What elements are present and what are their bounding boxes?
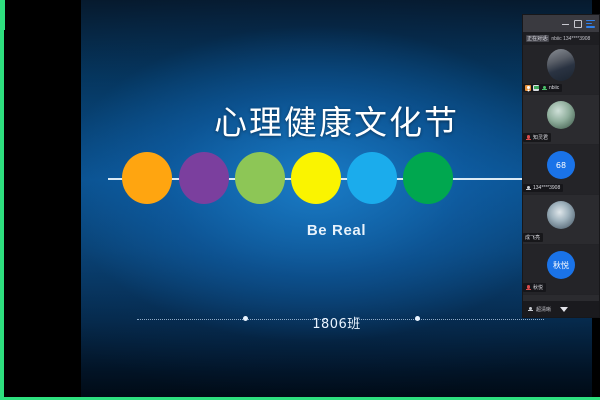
avatar: 秋悦 — [547, 251, 575, 279]
active-speaker-status: 正在对话: nbiic 134****3908 — [523, 32, 599, 45]
footer-label: 1806班 — [81, 313, 592, 332]
participant-name-bar: 知灵君 — [523, 133, 551, 142]
host-icon — [525, 85, 531, 91]
desktop-edge-left — [0, 0, 4, 400]
circle-green — [403, 152, 453, 204]
slide-title: 心理健康文化节 — [81, 96, 592, 144]
participant-name: 知灵君 — [533, 134, 548, 141]
mic-muted-icon — [525, 285, 531, 291]
participant-name-bar: 秋悦 — [523, 283, 546, 292]
video-quality-label: 超清晰 — [536, 306, 551, 313]
participant-name: nbiic — [549, 85, 559, 91]
letterbox-left — [4, 0, 81, 400]
video-call-panel: 正在对话: nbiic 134****3908 nbiic知灵君68134***… — [522, 14, 600, 318]
screen: 心理健康文化节 Be Real 1806班 — [0, 0, 600, 400]
mic-on-icon — [541, 85, 547, 91]
mic-icon[interactable] — [527, 306, 533, 312]
participant-name-bar: 134****3908 — [523, 184, 563, 192]
maximize-icon[interactable] — [574, 20, 582, 28]
desktop-edge-top — [0, 0, 5, 30]
panel-titlebar[interactable] — [523, 15, 599, 32]
mic-muted-icon — [525, 135, 531, 141]
circle-sky-blue — [347, 152, 397, 204]
participant-tile[interactable]: 知灵君 — [523, 95, 599, 145]
participant-name-bar: 成飞亮 — [523, 233, 543, 242]
circle-purple — [179, 152, 229, 204]
circle-band — [81, 152, 592, 204]
participant-tile[interactable]: 秋悦秋悦 — [523, 245, 599, 295]
participant-name: 秋悦 — [533, 284, 543, 291]
active-speaker-label: 正在对话: — [526, 35, 549, 42]
avatar — [547, 201, 575, 229]
panel-bottom-bar[interactable]: 超清晰 — [523, 301, 599, 317]
participant-tile[interactable]: 成飞亮 — [523, 195, 599, 245]
slide-subtitle: Be Real — [81, 222, 592, 239]
slide-footer: 1806班 — [81, 308, 592, 330]
minimize-icon[interactable] — [562, 20, 570, 28]
avatar: 68 — [547, 151, 575, 179]
circle-yellow — [291, 152, 341, 204]
circle-orange — [122, 152, 172, 204]
avatar — [547, 101, 575, 129]
participant-tile[interactable]: nbiic — [523, 45, 599, 95]
participant-tile[interactable]: 68134****3908 — [523, 145, 599, 195]
participant-name: 134****3908 — [533, 185, 560, 191]
mic-off-icon — [525, 185, 531, 191]
circle-light-green — [235, 152, 285, 204]
avatar — [547, 49, 575, 81]
active-speaker-value: nbiic 134****3908 — [551, 36, 590, 42]
list-view-icon[interactable] — [586, 20, 595, 28]
participant-name: 成飞亮 — [525, 234, 540, 241]
presentation-slide: 心理健康文化节 Be Real 1806班 — [81, 0, 592, 400]
participant-name-bar: nbiic — [523, 84, 562, 92]
participant-list[interactable]: nbiic知灵君68134****3908成飞亮秋悦秋悦 — [523, 45, 599, 301]
screen-share-icon — [533, 85, 539, 91]
chevron-down-icon[interactable] — [560, 307, 568, 312]
